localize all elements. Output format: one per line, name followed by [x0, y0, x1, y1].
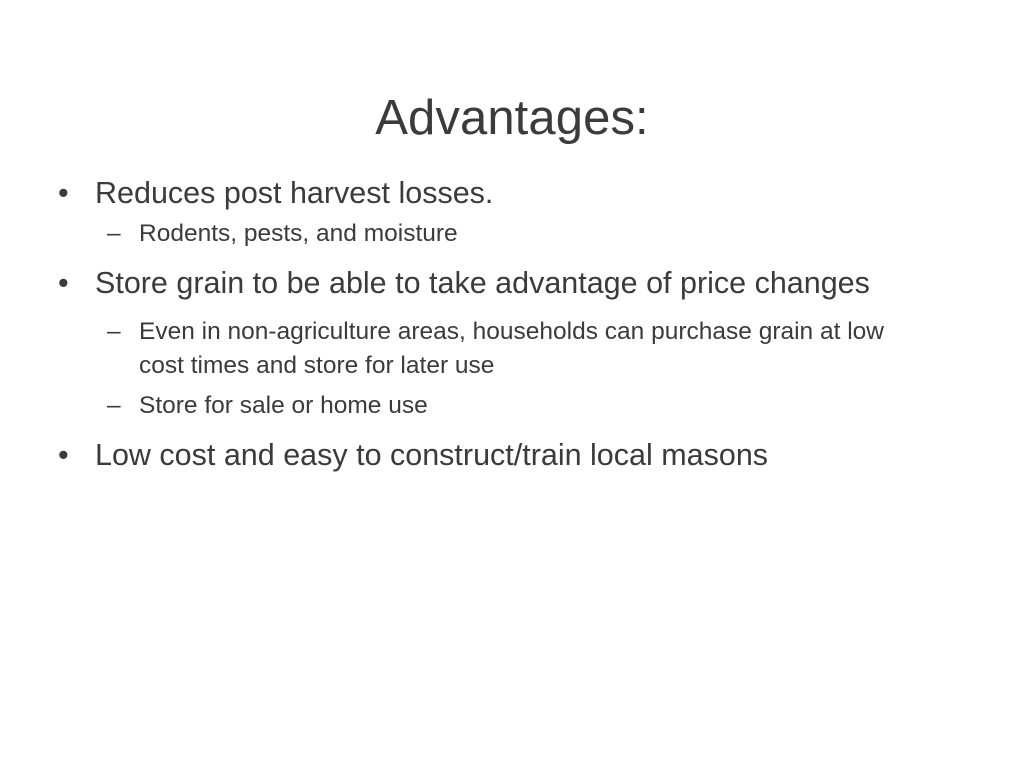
dash-icon: – — [107, 217, 121, 251]
presentation-slide: Advantages: • Reduces post harvest losse… — [0, 0, 1024, 767]
bullet-text: Reduces post harvest losses. — [95, 173, 929, 213]
bullet-text: Low cost and easy to construct/train loc… — [95, 435, 929, 475]
slide-bullet-list: • Reduces post harvest losses. – Rodents… — [0, 173, 1024, 478]
bullet-dot-icon: • — [58, 263, 69, 303]
bullet-dot-icon: • — [58, 435, 69, 475]
bullet-text: Rodents, pests, and moisture — [139, 217, 919, 251]
page-title: Advantages: — [0, 93, 1024, 144]
dash-icon: – — [107, 315, 121, 349]
bullet-text: Store for sale or home use — [139, 389, 919, 423]
bullet-item-level1: • Low cost and easy to construct/train l… — [0, 435, 1024, 475]
dash-icon: – — [107, 389, 121, 423]
bullet-item-level2: – Rodents, pests, and moisture — [0, 217, 1024, 251]
bullet-item-level1: • Reduces post harvest losses. — [0, 173, 1024, 213]
bullet-text: Store grain to be able to take advantage… — [95, 263, 929, 303]
bullet-text: Even in non-agriculture areas, household… — [139, 315, 919, 383]
bullet-item-level2: – Store for sale or home use — [0, 389, 1024, 423]
bullet-dot-icon: • — [58, 173, 69, 213]
bullet-item-level1: • Store grain to be able to take advanta… — [0, 263, 1024, 303]
bullet-item-level2: – Even in non-agriculture areas, househo… — [0, 315, 1024, 383]
